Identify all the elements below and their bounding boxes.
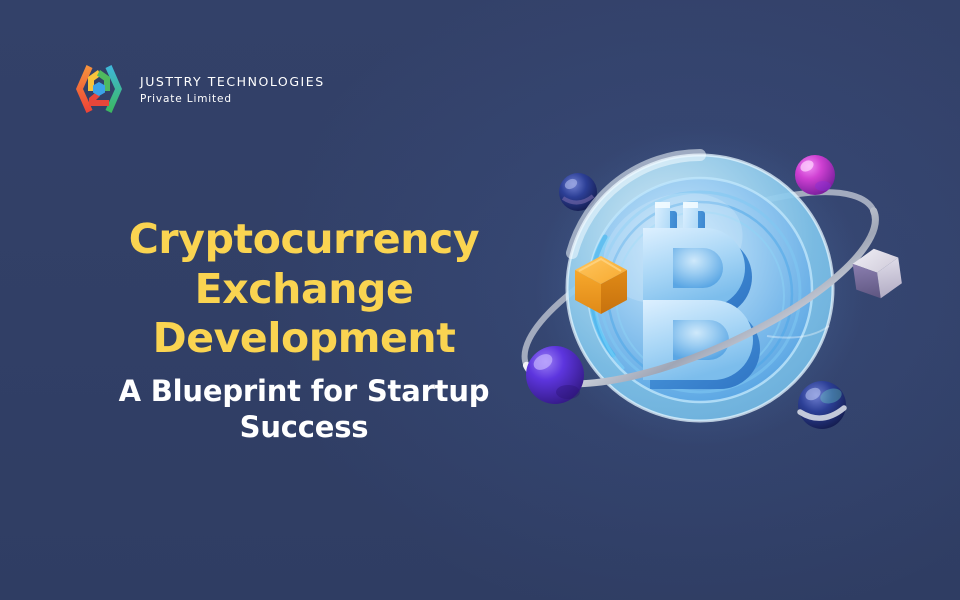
blue-sphere-bottom [798, 381, 846, 429]
bitcoin-orbit-illustration-icon [495, 140, 935, 460]
justtry-hexagon-chevron-logo-icon [70, 62, 128, 116]
hero-subheadline: A Blueprint for Startup Success [64, 373, 544, 446]
headline-line-1: Cryptocurrency Exchange [64, 215, 544, 314]
brand-logo[interactable]: JUSTTRY TECHNOLOGIES Private Limited [70, 62, 325, 116]
brand-logo-text: JUSTTRY TECHNOLOGIES Private Limited [140, 72, 325, 107]
violet-sphere [526, 346, 584, 404]
magenta-sphere [795, 155, 835, 195]
page-title: Cryptocurrency Exchange Development [64, 215, 544, 364]
hero-banner: JUSTTRY TECHNOLOGIES Private Limited Cry… [0, 0, 960, 600]
hero-copy: Cryptocurrency Exchange Development A Bl… [64, 215, 544, 445]
bitcoin-coin-artwork [495, 140, 935, 460]
headline-line-2: Development [64, 314, 544, 364]
company-name: JUSTTRY TECHNOLOGIES [140, 74, 325, 90]
company-suffix: Private Limited [140, 92, 325, 106]
